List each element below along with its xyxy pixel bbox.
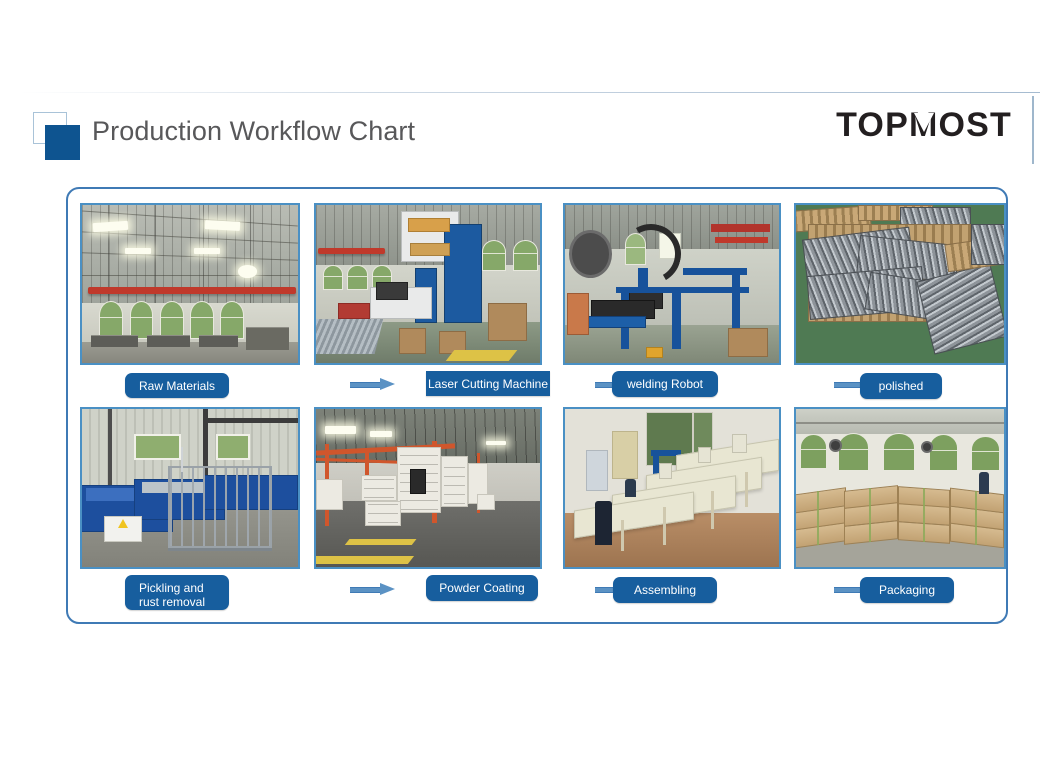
title-decoration-squares-icon [33,112,85,162]
assembly-workshop-photo [563,407,781,569]
step-label-line-2: rust removal [139,595,205,609]
workflow-step-raw-materials[interactable]: Raw Materials [80,203,300,365]
step-label-packaging[interactable]: Packaging [860,577,954,603]
workflow-step-laser-cutting[interactable]: Laser Cutting Machine [314,203,542,365]
logo-text-ost: OST [939,106,1013,144]
laser-cutting-machine-photo [314,203,542,365]
welding-robot-photo [563,203,781,365]
logo-vertical-divider [1032,96,1034,164]
page-header: Production Workflow Chart TOPMOST [0,0,1060,180]
workflow-step-pickling[interactable]: Pickling and rust removal [80,407,300,569]
workflow-step-welding-robot[interactable]: welding Robot [563,203,781,365]
logo-letter-m: M [909,106,939,144]
step-label-welding-robot[interactable]: welding Robot [612,371,718,397]
factory-workshop-interior-photo [80,203,300,365]
pickling-tanks-photo [80,407,300,569]
workflow-step-assembling[interactable]: Assembling [563,407,781,569]
workflow-arrow-2-1 [350,583,396,596]
workflow-arrow-1-1 [350,378,396,391]
step-label-assembling[interactable]: Assembling [613,577,717,603]
step-label-polished[interactable]: polished [860,373,942,399]
workflow-row-1: Raw Materials [68,197,1010,407]
step-label-laser-cutting-machine[interactable]: Laser Cutting Machine [426,371,550,396]
step-label-line-1: Pickling and [139,581,204,595]
workflow-diagram-frame: Raw Materials [66,187,1008,624]
workflow-row-2: Pickling and rust removal [68,401,1010,611]
step-label-powder-coating[interactable]: Powder Coating [426,575,538,601]
polished-metal-parts-photo [794,203,1006,365]
topmost-logo: TOPMOST [836,104,1012,146]
workflow-step-polished[interactable]: polished [794,203,1006,365]
step-label-pickling-rust-removal[interactable]: Pickling and rust removal [125,575,229,610]
workflow-step-powder-coating[interactable]: Powder Coating [314,407,542,569]
logo-wordmark: TOPMOST [836,106,1012,144]
logo-text-top: TOP [836,106,909,144]
page-title: Production Workflow Chart [92,112,415,150]
packaging-warehouse-photo [794,407,1006,569]
step-label-raw-materials[interactable]: Raw Materials [125,373,229,398]
header-divider-rule [20,92,1040,93]
powder-coating-line-photo [314,407,542,569]
logo-m-triangle-cutout-icon [914,113,934,132]
filled-square-shape [45,125,80,160]
workflow-step-packaging[interactable]: Packaging [794,407,1006,569]
